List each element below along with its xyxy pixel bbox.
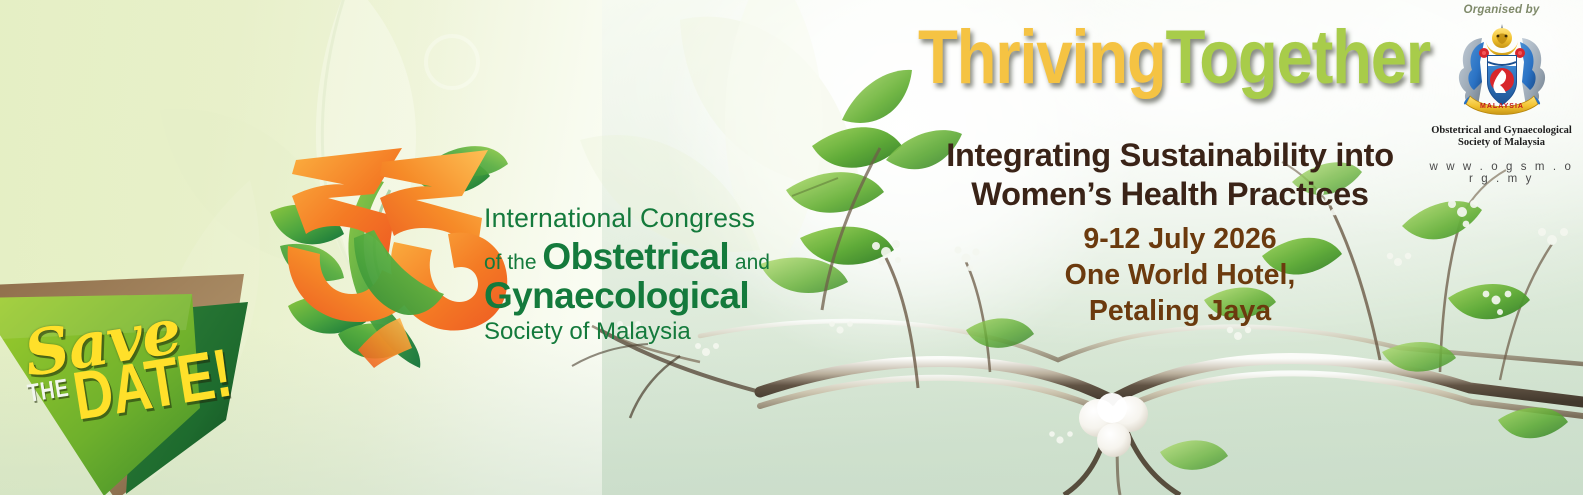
conference-banner: Save THE DATE!: [0, 0, 1583, 495]
congress-line-obstetrical: of the Obstetrical and: [484, 238, 784, 275]
crest-motto: MALAYSIA: [1480, 103, 1524, 110]
congress-obstetrical: Obstetrical: [542, 236, 729, 277]
event-venue-line-2: Petaling Jaya: [1045, 294, 1315, 330]
event-details: 9-12 July 2026 One World Hotel, Petaling…: [1045, 222, 1315, 330]
society-name-line-1: Obstetrical and Gynaecological: [1424, 125, 1579, 137]
congress-gynaecological: Gynaecological: [484, 277, 784, 314]
society-name: Obstetrical and Gynaecological Society o…: [1424, 125, 1579, 150]
congress-33-logo: [262, 138, 510, 370]
the-word: THE: [26, 374, 71, 409]
subtitle-line-1: Integrating Sustainability into: [920, 136, 1420, 175]
organised-by-label: Organised by: [1424, 4, 1579, 16]
event-date: 9-12 July 2026: [1045, 222, 1315, 258]
theme-subtitle: Integrating Sustainability into Women’s …: [920, 136, 1420, 214]
event-venue-line-1: One World Hotel,: [1045, 258, 1315, 294]
society-name-line-2: Society of Malaysia: [1424, 137, 1579, 149]
congress-and: and: [729, 251, 770, 274]
congress-society: Society of Malaysia: [484, 320, 784, 344]
headline-thriving: Thriving: [918, 15, 1165, 100]
ogsm-website-link[interactable]: w w w . o g s m . o r g . m y: [1424, 161, 1579, 185]
headline-together: Together: [1165, 15, 1429, 100]
congress-line-international: International Congress: [484, 205, 784, 232]
subtitle-line-2: Women’s Health Practices: [920, 175, 1420, 214]
congress-title-block: International Congress of the Obstetrica…: [484, 205, 784, 344]
theme-headline: ThrivingTogether: [918, 22, 1398, 94]
ogsm-crest-icon[interactable]: MALAYSIA: [1452, 20, 1552, 120]
congress-of-the: of the: [484, 251, 542, 274]
save-the-date-badge[interactable]: Save THE DATE!: [0, 268, 258, 495]
organiser-block: Organised by: [1424, 4, 1579, 185]
